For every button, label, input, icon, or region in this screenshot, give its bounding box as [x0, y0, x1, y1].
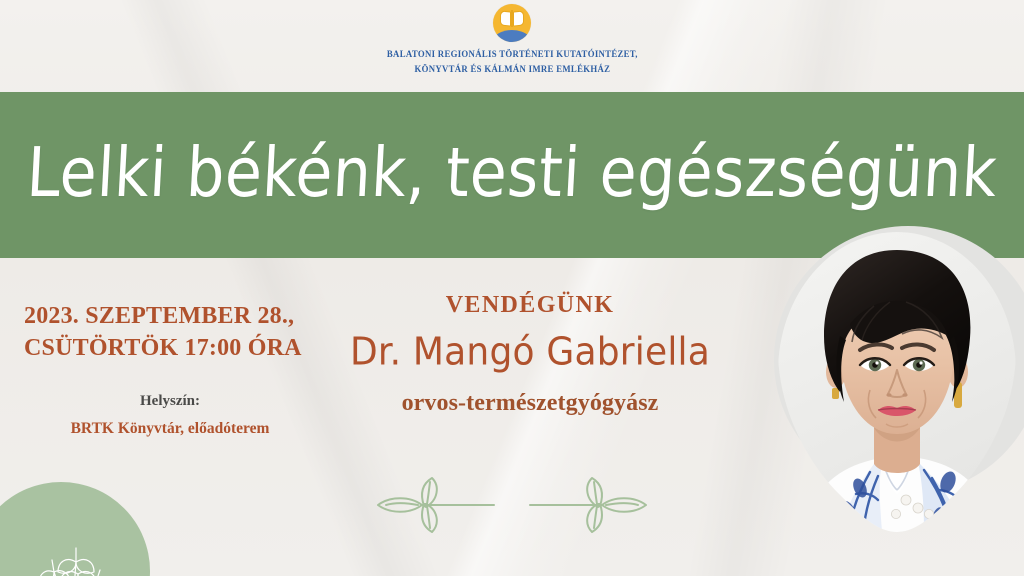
organization-line-1: BALATONI REGIONÁLIS TÖRTÉNETI KUTATÓINTÉ…: [387, 48, 638, 63]
wheat-decoration-circle: [0, 482, 150, 576]
event-poster: BALATONI REGIONÁLIS TÖRTÉNETI KUTATÓINTÉ…: [0, 0, 1024, 576]
venue-value: BRTK Könyvtár, előadóterem: [0, 420, 340, 438]
guest-name: Dr. Mangó Gabriella: [330, 331, 730, 374]
event-date-line-2: CSÜTÖRTÖK 17:00 ÓRA: [24, 332, 340, 364]
page-title: Lelki békénk, testi egészségünk: [25, 133, 999, 213]
organization-name: BALATONI REGIONÁLIS TÖRTÉNETI KUTATÓINTÉ…: [387, 48, 638, 77]
event-date-line-1: 2023. SZEPTEMBER 28.,: [24, 300, 340, 332]
venue-label: Helyszín:: [0, 393, 340, 410]
wheat-stalks-icon: [10, 498, 130, 576]
water-wave-shape: [493, 30, 531, 42]
guest-label: VENDÉGÜNK: [330, 292, 730, 319]
book-page-right: [513, 10, 524, 26]
organization-line-2: KÖNYVTÁR ÉS KÁLMÁN IMRE EMLÉKHÁZ: [387, 63, 638, 78]
guest-column: VENDÉGÜNK Dr. Mangó Gabriella orvos-term…: [330, 292, 730, 417]
open-book-circle-logo-icon: [493, 4, 531, 42]
event-date: 2023. SZEPTEMBER 28., CSÜTÖRTÖK 17:00 ÓR…: [0, 300, 340, 365]
book-spine: [511, 10, 513, 27]
book-page-left: [500, 10, 511, 26]
event-details-column: 2023. SZEPTEMBER 28., CSÜTÖRTÖK 17:00 ÓR…: [0, 300, 340, 438]
guest-portrait-photo: [778, 232, 1016, 532]
book-glyph: [500, 11, 524, 27]
poster-header: BALATONI REGIONÁLIS TÖRTÉNETI KUTATÓINTÉ…: [0, 0, 1024, 92]
guest-role: orvos-természetgyógyász: [330, 390, 730, 417]
portrait-illustration: [778, 232, 1016, 532]
leaf-branch-divider-icon: [352, 476, 672, 534]
